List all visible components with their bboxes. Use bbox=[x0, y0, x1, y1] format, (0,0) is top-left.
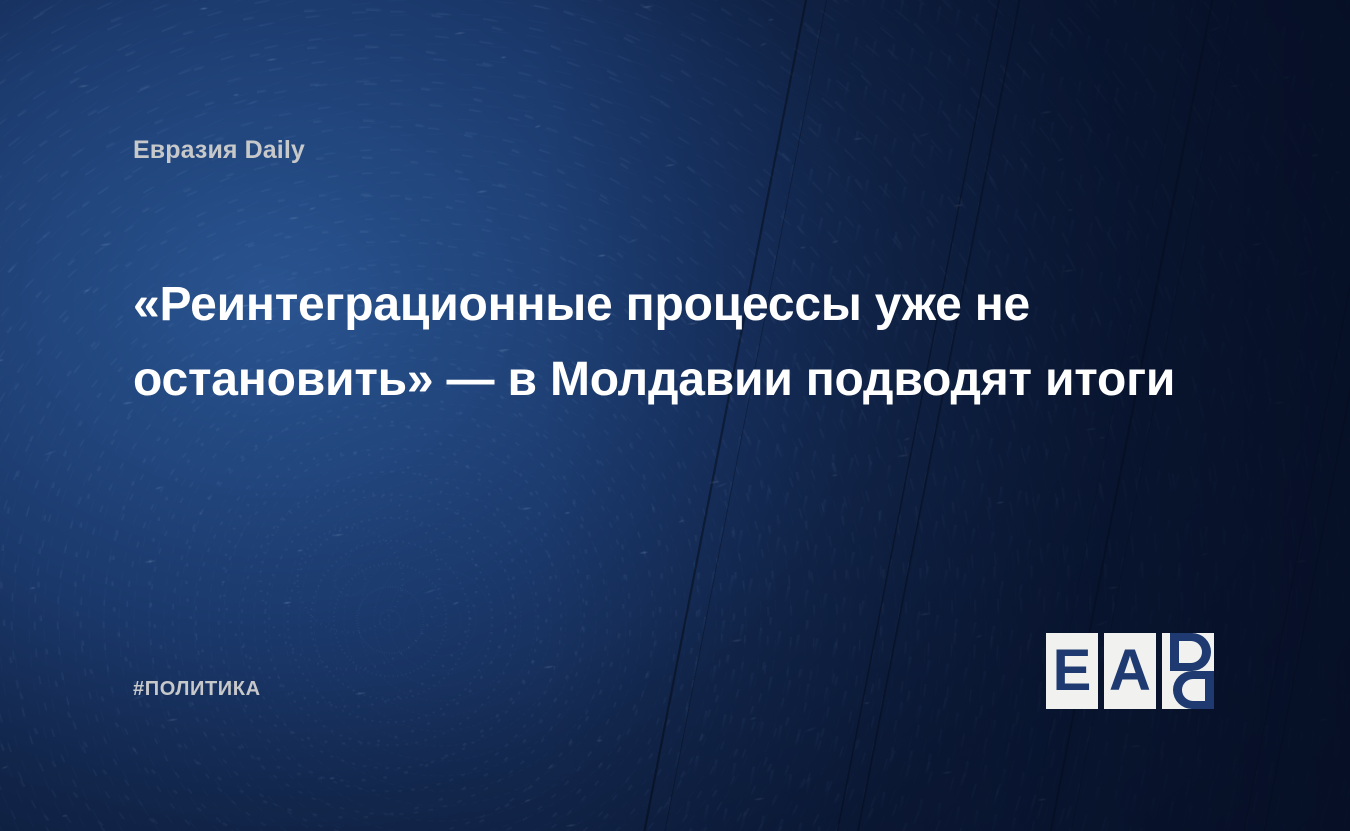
eadaily-logo: E A bbox=[1046, 633, 1222, 709]
logo-letter-d-lower bbox=[1170, 671, 1214, 709]
logo-tile-e: E bbox=[1046, 633, 1098, 709]
social-share-card: Евразия Daily «Реинтеграционные процессы… bbox=[0, 0, 1350, 831]
brand-wordmark: Евразия Daily bbox=[133, 136, 305, 165]
headline-text: «Реинтеграционные процессы уже не остано… bbox=[133, 267, 1223, 417]
logo-tile-d bbox=[1162, 633, 1214, 709]
logo-letter-d-upper bbox=[1170, 633, 1214, 671]
logo-letter-e: E bbox=[1046, 633, 1098, 709]
logo-tile-a: A bbox=[1104, 633, 1156, 709]
logo-letter-a: A bbox=[1104, 633, 1156, 709]
category-hashtag: #ПОЛИТИКА bbox=[133, 678, 261, 701]
card-content: Евразия Daily «Реинтеграционные процессы… bbox=[0, 0, 1350, 831]
